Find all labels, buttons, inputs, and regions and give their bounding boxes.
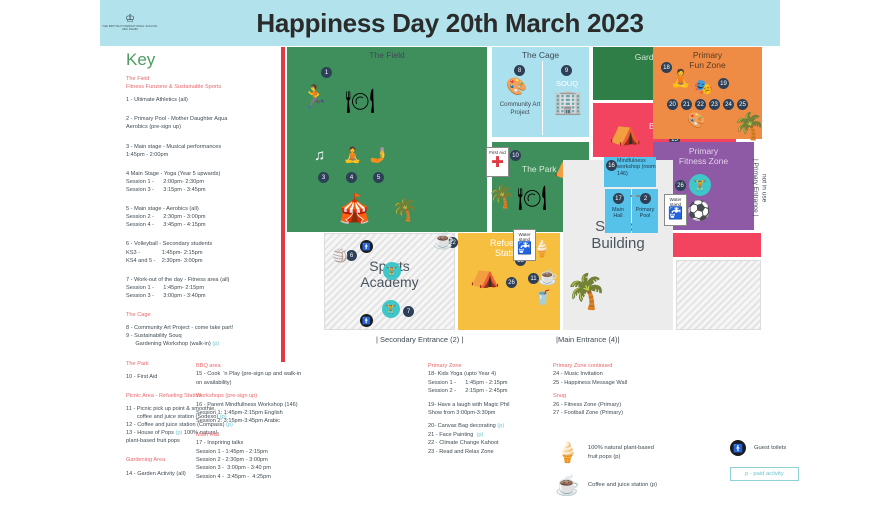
key-line: 9 - Sustainability Souq	[126, 332, 292, 340]
yoga-kid-icon: 🧘	[670, 69, 691, 89]
bottom-key-line: 20- Canvas Bag decorating (p)	[428, 422, 550, 430]
bottom-key-line: Session 2 - 2:15pm - 2:45pm	[428, 387, 550, 395]
market-stall-icon: 🏢	[553, 88, 583, 117]
legend-row-paid: p - paid activity	[730, 467, 880, 481]
bottom-key-line: 16 - Parent Mindfullness Workshop (146)	[196, 401, 318, 409]
dumbbell-icon: 🏋	[383, 262, 401, 280]
key-line: Session 4 - 3:45pm - 4:15pm	[126, 221, 292, 229]
key-group: 5 - Main stage - Aerobics (all)Session 2…	[126, 205, 292, 234]
map-number-17[interactable]: 17	[613, 193, 624, 204]
bottom-key-heading: Primary Zone continued	[553, 362, 693, 370]
key-spacer	[126, 265, 292, 270]
key-group: The FieldFitness Funzone & Sustainable S…	[126, 75, 292, 109]
tap-icon-2: 🚰	[668, 206, 683, 220]
paid-marker: (p)	[497, 423, 504, 429]
first-aid-box[interactable]: First Aid ✚	[486, 147, 509, 177]
site-map: The Field 1 🏃 🍽 3 4 5 ♫ 🧘 🤳 🎪 🌴 The Cage…	[281, 47, 780, 340]
water-stand-box-1[interactable]: Water stand 🚰	[513, 229, 536, 261]
key-line: 8 - Community Art Project - come take pa…	[126, 324, 292, 332]
legend-row-coffee: ☕ Coffee and juice station (p)	[555, 473, 730, 498]
map-number-25[interactable]: 25	[737, 99, 748, 110]
key-spacer	[126, 132, 292, 137]
school-crest: ♔ THE BRITISH INTERNATIONAL SCHOOL ABU D…	[100, 14, 160, 31]
bottom-key-line: 22 - Climate Change Kahoot	[428, 439, 550, 447]
bottom-key-line: 17 - Inspriring talks	[196, 439, 318, 447]
key-line: Session 2 - 2:30pm - 3:00pm	[126, 213, 292, 221]
music-note-icon: ♫	[314, 147, 325, 164]
zone-the-field-label: The Field	[287, 47, 487, 60]
bottom-key-line: Show from 3:00pm-3:30pm	[428, 409, 550, 417]
coffee-cup-icon-12: ☕	[433, 231, 454, 251]
key-group: 7 - Work-out of the day - Fitness area (…	[126, 276, 292, 305]
key-spacer	[126, 349, 292, 354]
dumbbell-icon: 🏋	[689, 174, 711, 196]
main-entrance-label: |Main Entrance (4)|	[556, 335, 620, 344]
key-spacer	[126, 194, 292, 199]
map-number-1[interactable]: 1	[321, 67, 332, 78]
key-group: 6 - Volleyball - Secondary studentsKS3 -…	[126, 240, 292, 269]
bottom-key-line: 18- Kids Yoga (upto Year 4)	[428, 370, 550, 378]
key-line: 7 - Work-out of the day - Fitness area (…	[126, 276, 292, 284]
palm-tree-icon: 🌴	[391, 197, 418, 223]
bottom-key-line: Session 1 - 1:45pm - 2:15pm	[196, 448, 318, 456]
bottom-key-heading: Primary Zone	[428, 362, 550, 370]
primary-entrance-label: | Primary Entrance |	[751, 159, 759, 216]
map-number-26[interactable]: 26	[675, 180, 686, 191]
key-spacer	[126, 229, 292, 234]
legend-coffee-text: Coffee and juice station (p)	[588, 481, 657, 489]
bottom-key-line: Session 4 - 3:45pm - 4:25pm	[196, 473, 318, 481]
key-line: Session 1 - 1:45pm- 2:15pm	[126, 284, 292, 292]
bottom-key-line: 26 - Fitness Zone (Primary)	[553, 401, 693, 409]
key-group: 4 Main Stage - Yoga (Year 5 upwards)Sess…	[126, 170, 292, 199]
smoothie-icon: 🥤	[534, 289, 551, 306]
legend-panel: 🍦 100% natural plant-based fruit pops (p…	[555, 440, 885, 506]
map-number-9[interactable]: 9	[561, 65, 572, 76]
map-left-red-border	[281, 47, 285, 362]
art-palette-icon: 🎨	[506, 77, 527, 97]
key-heading: Key	[126, 50, 292, 70]
picnic-blanket-icon: 🍽	[345, 87, 375, 116]
palm-tree-icon: 🌴	[733, 111, 765, 142]
key-line: Aerobics (pre-sign up)	[126, 123, 292, 131]
zone-primary-fun-zone[interactable]: Primary Fun Zone 18 🧘 🎭 19 20 21 22 23 2…	[653, 47, 762, 139]
legend-pops-text: 100% natural plant-based	[588, 445, 654, 451]
key-group-heading: The Field	[126, 75, 292, 83]
hatched-area-right	[676, 260, 761, 330]
main-hall-label-2: Hall	[605, 213, 631, 219]
paint-palette-icon: 🎨	[687, 111, 706, 129]
map-number-26b[interactable]: 26	[506, 277, 517, 288]
map-number-4[interactable]: 4	[346, 172, 357, 183]
key-line: KS4 and 5 - 2:30pm- 3:00pm	[126, 257, 292, 265]
key-line: 6 - Volleyball - Secondary students	[126, 240, 292, 248]
zone-the-cage-label: The Cage	[492, 47, 589, 60]
paid-marker: (p)	[212, 341, 219, 347]
water-stand-box-3[interactable]	[630, 195, 632, 197]
page-title: Happiness Day 20th March 2023	[160, 8, 780, 39]
main-hall-box[interactable]: 17 Main Hall	[605, 189, 631, 233]
map-number-10[interactable]: 10	[510, 150, 521, 161]
zone-refueling-station[interactable]: Refueling Station 13 🍦 ⛺ 26 11 ☕ 🥤	[458, 233, 560, 330]
dumbbell-icon-2: 🏋	[382, 300, 400, 318]
key-group: 3 - Main stage - Musical performances1:4…	[126, 143, 292, 164]
key-spacer	[126, 300, 292, 305]
souq-label: SOUQ	[546, 79, 588, 88]
popsicles-icon: 🍦	[555, 440, 580, 465]
bottom-key-line: Session 2 - 2:30pm - 3:00pm	[196, 456, 318, 464]
key-line: 3 - Main stage - Musical performances	[126, 143, 292, 151]
key-line: 2 - Primary Pool - Mother Daughter Aqua	[126, 115, 292, 123]
map-number-23[interactable]: 23	[709, 99, 720, 110]
cage-divider	[542, 61, 543, 135]
map-number-8[interactable]: 8	[514, 65, 525, 76]
water-stand-box-4[interactable]	[638, 195, 640, 197]
tap-icon: 🚰	[517, 241, 532, 255]
map-number-21[interactable]: 21	[681, 99, 692, 110]
key-line: 1 - Ultimate Athletics (all)	[126, 96, 292, 104]
secondary-entrance-label: | Secondary Entrance (2) |	[376, 335, 463, 344]
map-number-20[interactable]: 20	[667, 99, 678, 110]
red-cross-icon: ✚	[491, 154, 504, 171]
bottom-key-line: Session 1 - 1:45pm - 2:15pm	[428, 379, 550, 387]
bottom-key-line: 25 - Happiness Message Wall	[553, 379, 693, 387]
primary-entrance-vertical: | Primary Entrance | not in use	[751, 159, 808, 216]
school-label-2: Building	[563, 235, 673, 252]
bottom-key-heading: Main Hall	[196, 431, 318, 439]
football-icon: ⚽	[687, 199, 711, 223]
map-number-24[interactable]: 24	[723, 99, 734, 110]
bottom-key-heading: Workshops (pre-sign up)	[196, 392, 318, 400]
bottom-key-line: Session 1: 1:45pm-2:15pm English	[196, 409, 318, 417]
paid-marker: (p)	[175, 430, 182, 436]
palm-tree-icon: 🌴	[488, 184, 515, 210]
map-number-16[interactable]: 16	[606, 160, 617, 171]
guest-toilets-icon: 🚹	[730, 440, 746, 456]
bottom-key-line: Session 3 - 3:00pm - 3:40 pm	[196, 464, 318, 472]
key-group-heading: Fitness Funzone & Sustainable Sports	[126, 83, 292, 91]
key-spacer	[126, 104, 292, 109]
palm-trees-icon: 🌴	[565, 272, 607, 312]
running-icon: 🏃	[301, 84, 328, 110]
map-number-5[interactable]: 5	[373, 172, 384, 183]
key-spacer	[126, 159, 292, 164]
aerobics-icon: 🤳	[369, 146, 388, 164]
key-line: 4 Main Stage - Yoga (Year 5 upwards)	[126, 170, 292, 178]
bottom-key-column-3: Primary Zone continued24 - Music Invitat…	[553, 362, 693, 417]
bottom-key-line: 15 - Cook 'n Play (pre-sign up and walk-…	[196, 370, 318, 378]
primary-entrance-note: not in use	[759, 159, 767, 216]
zone-the-field[interactable]: The Field 1 🏃 🍽 3 4 5 ♫ 🧘 🤳 🎪 🌴	[287, 47, 487, 232]
key-line: Session 3 - 3:00pm - 3:40pm	[126, 292, 292, 300]
bottom-key-line: on availability)	[196, 379, 318, 387]
community-art-project-label: Community Art Project	[498, 101, 542, 117]
coffee-cup-icon: ☕	[555, 473, 580, 498]
key-line: Gardening Workshop (walk-in) (p)	[126, 340, 292, 348]
water-stand-box-2b[interactable]: Water stand 🚰	[664, 194, 687, 226]
map-number-19[interactable]: 19	[718, 78, 729, 89]
bottom-key-column-1: BBQ area15 - Cook 'n Play (pre-sign up a…	[196, 362, 318, 481]
bottom-key-line: Session 2: 3:15pm-3:45pm Arabic	[196, 417, 318, 425]
legend-row-toilets: 🚹 Guest toilets	[730, 440, 880, 456]
guest-toilets-icon: 🚹	[360, 240, 373, 253]
zone-fitness-label-1: Primary	[653, 142, 754, 156]
picnic-umbrella-icon: ⛺	[470, 261, 500, 290]
map-number-3[interactable]: 3	[318, 172, 329, 183]
legend-pops-text2: fruit pops (p)	[588, 454, 621, 460]
key-line: Session 3 - 3:15pm - 3:45pm	[126, 186, 292, 194]
volleyball-icon: 🏐	[332, 248, 348, 264]
paid-activity-badge: p - paid activity	[730, 467, 799, 481]
paid-marker: (p)	[477, 432, 484, 438]
crest-text: THE BRITISH INTERNATIONAL SCHOOL ABU DHA…	[100, 26, 160, 31]
key-line: 5 - Main stage - Aerobics (all)	[126, 205, 292, 213]
bottom-key-heading: BBQ area	[196, 362, 318, 370]
bottom-key-column-2: Primary Zone18- Kids Yoga (upto Year 4)S…	[428, 362, 550, 456]
coffee-cup-icon: ☕	[538, 267, 558, 287]
legend-row-pops: 🍦 100% natural plant-based fruit pops (p…	[555, 440, 730, 465]
map-number-2[interactable]: 2	[640, 193, 651, 204]
primary-pool-label-2: Pool	[632, 213, 658, 219]
key-group-heading: The Cage	[126, 311, 292, 319]
bottom-key-line: 21 - Face Painting (p)	[428, 431, 550, 439]
zone-fun-label-1: Primary	[653, 47, 762, 60]
key-line: Session 1 - 2:00pm- 2:30pm	[126, 178, 292, 186]
guest-toilets-icon-2: 🚹	[360, 314, 373, 327]
bottom-key-line: 19- Have a laugh with Magic Phil	[428, 401, 550, 409]
picnic-table-icon: ⛺	[609, 116, 641, 147]
key-group: 2 - Primary Pool - Mother Daughter AquaA…	[126, 115, 292, 136]
key-line: KS3 - 1:45pm- 2:15pm	[126, 249, 292, 257]
bottom-key-line: 24 - Music Invitation	[553, 370, 693, 378]
bottom-key-line: 23 - Read and Relax Zone	[428, 448, 550, 456]
map-number-22[interactable]: 22	[695, 99, 706, 110]
legend-toilet-text: Guest toilets	[754, 444, 786, 452]
yoga-icon: 🧘	[343, 146, 362, 164]
map-number-7[interactable]: 7	[403, 306, 414, 317]
crown-icon: ♔	[100, 14, 160, 25]
mindfulness-workshop-box[interactable]: 16 Mindfulness workshop (room 146)	[604, 157, 656, 187]
bottom-key-line: 27 - Football Zone (Primary)	[553, 409, 693, 417]
zone-park-label: The Park	[522, 164, 557, 174]
key-line: 1:45pm - 2:00pm	[126, 151, 292, 159]
main-stage-icon: 🎪	[337, 192, 372, 225]
magic-show-icon: 🎭	[694, 78, 713, 96]
bbq-strip-right	[676, 233, 761, 257]
picnic-blanket-icon: 🍽	[517, 184, 547, 213]
zone-the-cage[interactable]: The Cage 8 9 🎨 Community Art Project SOU…	[492, 47, 589, 137]
key-group: The Cage8 - Community Art Project - come…	[126, 311, 292, 353]
bottom-key-heading: Snug	[553, 392, 693, 400]
page-header: ♔ THE BRITISH INTERNATIONAL SCHOOL ABU D…	[100, 0, 780, 46]
